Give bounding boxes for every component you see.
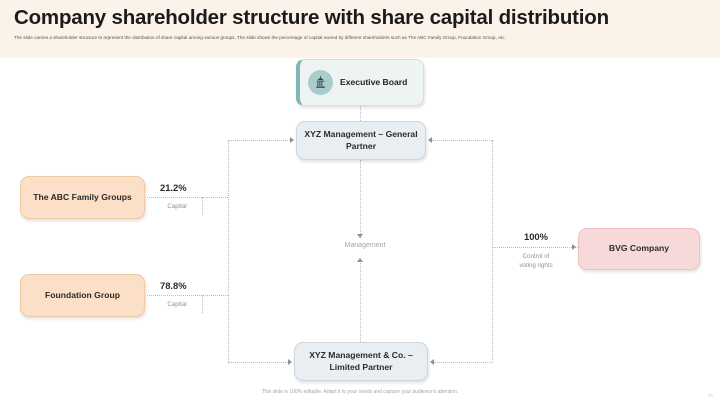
arrow-right-rail-to-gp [428, 137, 432, 143]
connector-abc-to-rail [147, 197, 228, 198]
slide-canvas: Company shareholder structure with share… [0, 0, 720, 404]
foundation-percent-caption: Capital [160, 301, 194, 308]
arrow-left-rail-to-gp [290, 137, 294, 143]
bvg-percent-caption-line2: voting rights [505, 262, 567, 269]
connector-right-rail-to-gp [432, 140, 492, 141]
abc-percent-caption: Capital [160, 203, 194, 210]
page-number: 45 [708, 393, 713, 398]
connector-left-rail [228, 140, 229, 362]
center-management-label: Management [330, 242, 400, 249]
connector-left-rail-to-gp [228, 140, 290, 141]
connector-center-lower [360, 260, 361, 342]
node-limited-partner[interactable]: XYZ Management & Co. – Limited Partner [294, 342, 428, 381]
connector-abc-stub [202, 197, 203, 215]
page-title: Company shareholder structure with share… [14, 5, 704, 31]
bvg-percent-caption-line1: Control of [505, 253, 567, 260]
connector-right-rail [492, 140, 493, 362]
connector-right-rail-to-lp [434, 362, 492, 363]
arrow-bvg-to-rail [572, 244, 576, 250]
connector-exec-to-gp [360, 106, 361, 121]
node-executive-board[interactable]: Executive Board [296, 59, 424, 106]
node-abc-family-groups[interactable]: The ABC Family Groups [20, 176, 145, 219]
arrow-left-rail-to-lp [288, 359, 292, 365]
connector-left-rail-to-lp [228, 362, 288, 363]
page-subtitle: The slide carries a shareholder structur… [14, 34, 696, 42]
connector-foundation-stub [202, 295, 203, 313]
arrow-center-lower [357, 258, 363, 262]
connector-center-upper [360, 160, 361, 238]
node-foundation-group[interactable]: Foundation Group [20, 274, 145, 317]
connector-foundation-to-rail [147, 295, 228, 296]
node-bvg-company[interactable]: BVG Company [578, 228, 700, 270]
arrow-center-upper [357, 234, 363, 238]
connector-bvg-to-rail [492, 247, 578, 248]
arrow-right-rail-to-lp [430, 359, 434, 365]
bvg-percent: 100% [524, 231, 548, 242]
foundation-percent: 78.8% [160, 280, 187, 291]
node-general-partner[interactable]: XYZ Management – General Partner [296, 121, 426, 160]
abc-percent: 21.2% [160, 182, 187, 193]
footer-note: This slide is 100% editable. Adapt it to… [0, 389, 720, 395]
organization-building-icon [308, 70, 333, 95]
node-executive-board-label: Executive Board [340, 77, 407, 88]
